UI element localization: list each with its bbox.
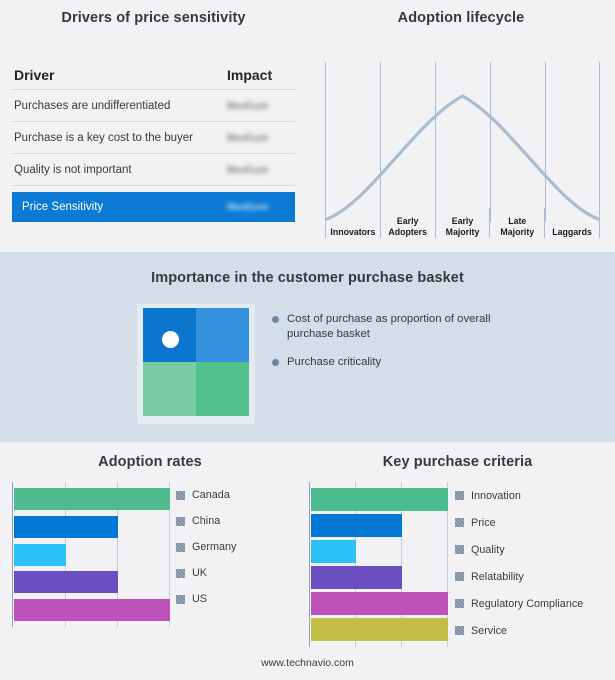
pattern-swatch-icon: [455, 491, 464, 500]
legend-item: Cost of purchase as proportion of overal…: [272, 312, 572, 341]
axis-label-innovators: Innovators: [325, 208, 381, 238]
legend-item-us: US: [176, 586, 236, 612]
legend-label: Quality: [471, 544, 505, 556]
position-marker-dot: [162, 331, 179, 348]
table-header-row: Driver Impact: [12, 60, 295, 90]
legend-item-uk: UK: [176, 560, 236, 586]
pattern-swatch-icon: [455, 626, 464, 635]
bar-germany: [14, 544, 66, 566]
bar-china: [14, 516, 118, 538]
adoption-rates-legend: Canada China Germany UK US: [176, 482, 236, 612]
bullet-icon: [272, 359, 279, 366]
lifecycle-chart: [325, 62, 600, 222]
pattern-swatch-icon: [176, 491, 185, 500]
legend-item-canada: Canada: [176, 482, 236, 508]
legend-label: Canada: [192, 489, 230, 501]
legend-item-relatability: Relatability: [455, 563, 583, 590]
impact-value: Medium: [227, 164, 295, 176]
footer-url: www.technavio.com: [0, 657, 615, 669]
legend-item-innovation: Innovation: [455, 482, 583, 509]
key-purchase-criteria-chart: [309, 482, 449, 647]
bar-relatability: [311, 566, 402, 589]
legend-label: Cost of purchase as proportion of overal…: [287, 312, 502, 341]
legend-item-germany: Germany: [176, 534, 236, 560]
top-section: Drivers of price sensitivity Driver Impa…: [0, 0, 615, 252]
drivers-panel: Drivers of price sensitivity Driver Impa…: [0, 0, 307, 252]
column-header-driver: Driver: [12, 67, 227, 83]
bar-quality: [311, 540, 356, 563]
legend-item-china: China: [176, 508, 236, 534]
legend-item-quality: Quality: [455, 536, 583, 563]
legend-label: Price: [471, 517, 496, 529]
pattern-swatch-icon: [455, 572, 464, 581]
axis-label-late-majority: Late Majority: [490, 208, 545, 238]
drivers-title: Drivers of price sensitivity: [0, 10, 307, 26]
key-purchase-criteria-legend: Innovation Price Quality Relatability Re…: [455, 482, 583, 644]
legend-label: Service: [471, 625, 507, 637]
drivers-table: Driver Impact Purchases are undifferenti…: [12, 60, 295, 222]
column-header-impact: Impact: [227, 67, 295, 83]
legend-item-service: Service: [455, 617, 583, 644]
bar-price: [311, 514, 402, 537]
bullet-icon: [272, 316, 279, 323]
pattern-swatch-icon: [455, 518, 464, 527]
middle-legend: Cost of purchase as proportion of overal…: [272, 312, 572, 384]
key-purchase-criteria-title: Key purchase criteria: [300, 454, 615, 470]
bar-canada: [14, 488, 170, 510]
pattern-swatch-icon: [455, 545, 464, 554]
driver-label: Purchases are undifferentiated: [12, 100, 227, 112]
axis-label-laggards: Laggards: [545, 208, 600, 238]
legend-label: UK: [192, 567, 207, 579]
quadrant-bottom-left: [143, 362, 196, 416]
middle-title: Importance in the customer purchase bask…: [0, 270, 615, 286]
legend-label: China: [192, 515, 220, 527]
legend-label: Germany: [192, 541, 236, 553]
quadrant-top-right: [196, 308, 249, 362]
table-row[interactable]: Purchases are undifferentiated Medium: [12, 90, 295, 122]
axis-label-early-adopters: Early Adopters: [381, 208, 436, 238]
legend-item-price: Price: [455, 509, 583, 536]
adoption-rates-title: Adoption rates: [0, 454, 300, 470]
pattern-swatch-icon: [176, 543, 185, 552]
lifecycle-panel: Adoption lifecycle Innovators Early Adop…: [307, 0, 615, 252]
axis-label-early-majority: Early Majority: [436, 208, 491, 238]
bottom-section: Adoption rates Canada China Germ: [0, 442, 615, 680]
pattern-swatch-icon: [176, 569, 185, 578]
table-row-highlighted[interactable]: Price Sensitivity Medium: [12, 192, 295, 222]
bar-innovation: [311, 488, 448, 511]
pattern-swatch-icon: [176, 517, 185, 526]
quadrant-chart: [137, 304, 255, 424]
driver-label: Purchase is a key cost to the buyer: [12, 132, 227, 144]
driver-label: Price Sensitivity: [22, 201, 227, 213]
legend-item: Purchase criticality: [272, 355, 572, 370]
middle-section: Importance in the customer purchase bask…: [0, 252, 615, 442]
bell-curve-line: [325, 62, 600, 222]
bar-us: [14, 599, 170, 621]
lifecycle-axis-labels: Innovators Early Adopters Early Majority…: [325, 208, 600, 238]
legend-label: Regulatory Compliance: [471, 598, 583, 610]
bar-regulatory-compliance: [311, 592, 448, 615]
legend-label: Innovation: [471, 490, 521, 502]
bar-service: [311, 618, 448, 641]
impact-value: Medium: [227, 100, 295, 112]
adoption-rates-chart: [12, 482, 172, 627]
bar-uk: [14, 571, 118, 593]
table-row[interactable]: Quality is not important Medium: [12, 154, 295, 186]
table-row[interactable]: Purchase is a key cost to the buyer Medi…: [12, 122, 295, 154]
driver-label: Quality is not important: [12, 164, 227, 176]
quadrant-bottom-right: [196, 362, 249, 416]
legend-label: Relatability: [471, 571, 524, 583]
lifecycle-title: Adoption lifecycle: [307, 10, 615, 26]
pattern-swatch-icon: [455, 599, 464, 608]
impact-value: Medium: [227, 132, 295, 144]
impact-value: Medium: [227, 201, 295, 213]
legend-item-regulatory-compliance: Regulatory Compliance: [455, 590, 583, 617]
pattern-swatch-icon: [176, 595, 185, 604]
legend-label: Purchase criticality: [287, 355, 381, 370]
legend-label: US: [192, 593, 207, 605]
